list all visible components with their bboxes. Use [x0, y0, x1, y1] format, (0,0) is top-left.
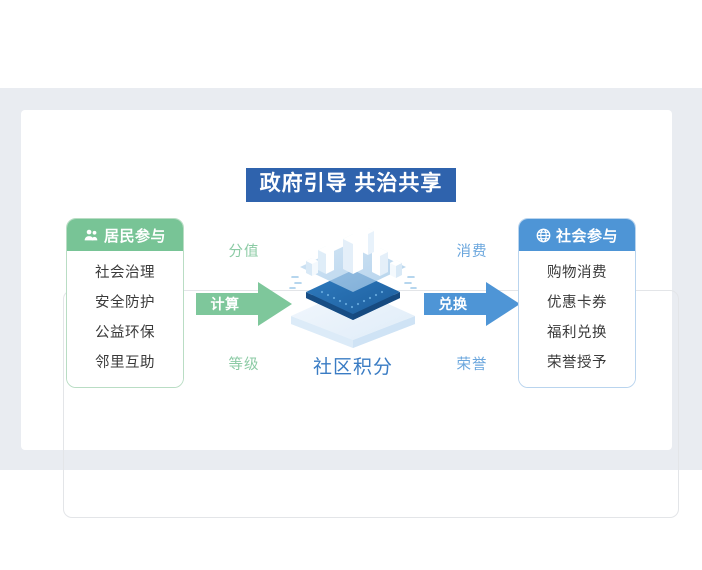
page-title-badge: 政府引导 共治共享: [243, 165, 460, 205]
panel-left-header: 居民参与: [67, 219, 183, 251]
list-item[interactable]: 购物消费: [519, 258, 635, 288]
isometric-city-layers-icon: [288, 222, 418, 348]
list-item[interactable]: 邻里互助: [67, 348, 183, 378]
panel-left-body: 社会治理 安全防护 公益环保 邻里互助: [67, 251, 183, 387]
list-item[interactable]: 社会治理: [67, 258, 183, 288]
arrow-right-bottom-caption: 荣誉: [424, 353, 520, 374]
panel-social-participation[interactable]: 社会参与 购物消费 优惠卡券 福利兑换 荣誉授予: [518, 218, 636, 388]
arrow-group-exchange: 消费 兑换 荣誉: [424, 240, 520, 380]
list-item[interactable]: 荣誉授予: [519, 348, 635, 378]
arrow-group-calculate: 分值 计算 等级: [196, 240, 292, 380]
list-item[interactable]: 公益环保: [67, 318, 183, 348]
title-badge-container: 政府引导 共治共享: [0, 166, 702, 204]
panel-left-header-label: 居民参与: [104, 225, 166, 246]
panel-right-body: 购物消费 优惠卡券 福利兑换 荣誉授予: [519, 251, 635, 387]
arrow-left-top-caption: 分值: [196, 240, 292, 261]
users-icon: [84, 228, 99, 243]
page-root: 政府引导 共治共享 居民参与 社会治理 安全防护 公益环保 邻里互助 分值: [0, 0, 702, 570]
list-item[interactable]: 福利兑换: [519, 318, 635, 348]
arrow-right-green-icon: [196, 282, 292, 326]
arrow-right-blue-icon: [424, 282, 520, 326]
panel-right-header-label: 社会参与: [556, 225, 618, 246]
globe-icon: [536, 228, 551, 243]
arrow-left-bottom-caption: 等级: [196, 353, 292, 374]
panel-resident-participation[interactable]: 居民参与 社会治理 安全防护 公益环保 邻里互助: [66, 218, 184, 388]
list-item[interactable]: 安全防护: [67, 288, 183, 318]
arrow-right-top-caption: 消费: [424, 240, 520, 261]
center-caption: 社区积分: [288, 352, 418, 379]
list-item[interactable]: 优惠卡券: [519, 288, 635, 318]
panel-right-header: 社会参与: [519, 219, 635, 251]
